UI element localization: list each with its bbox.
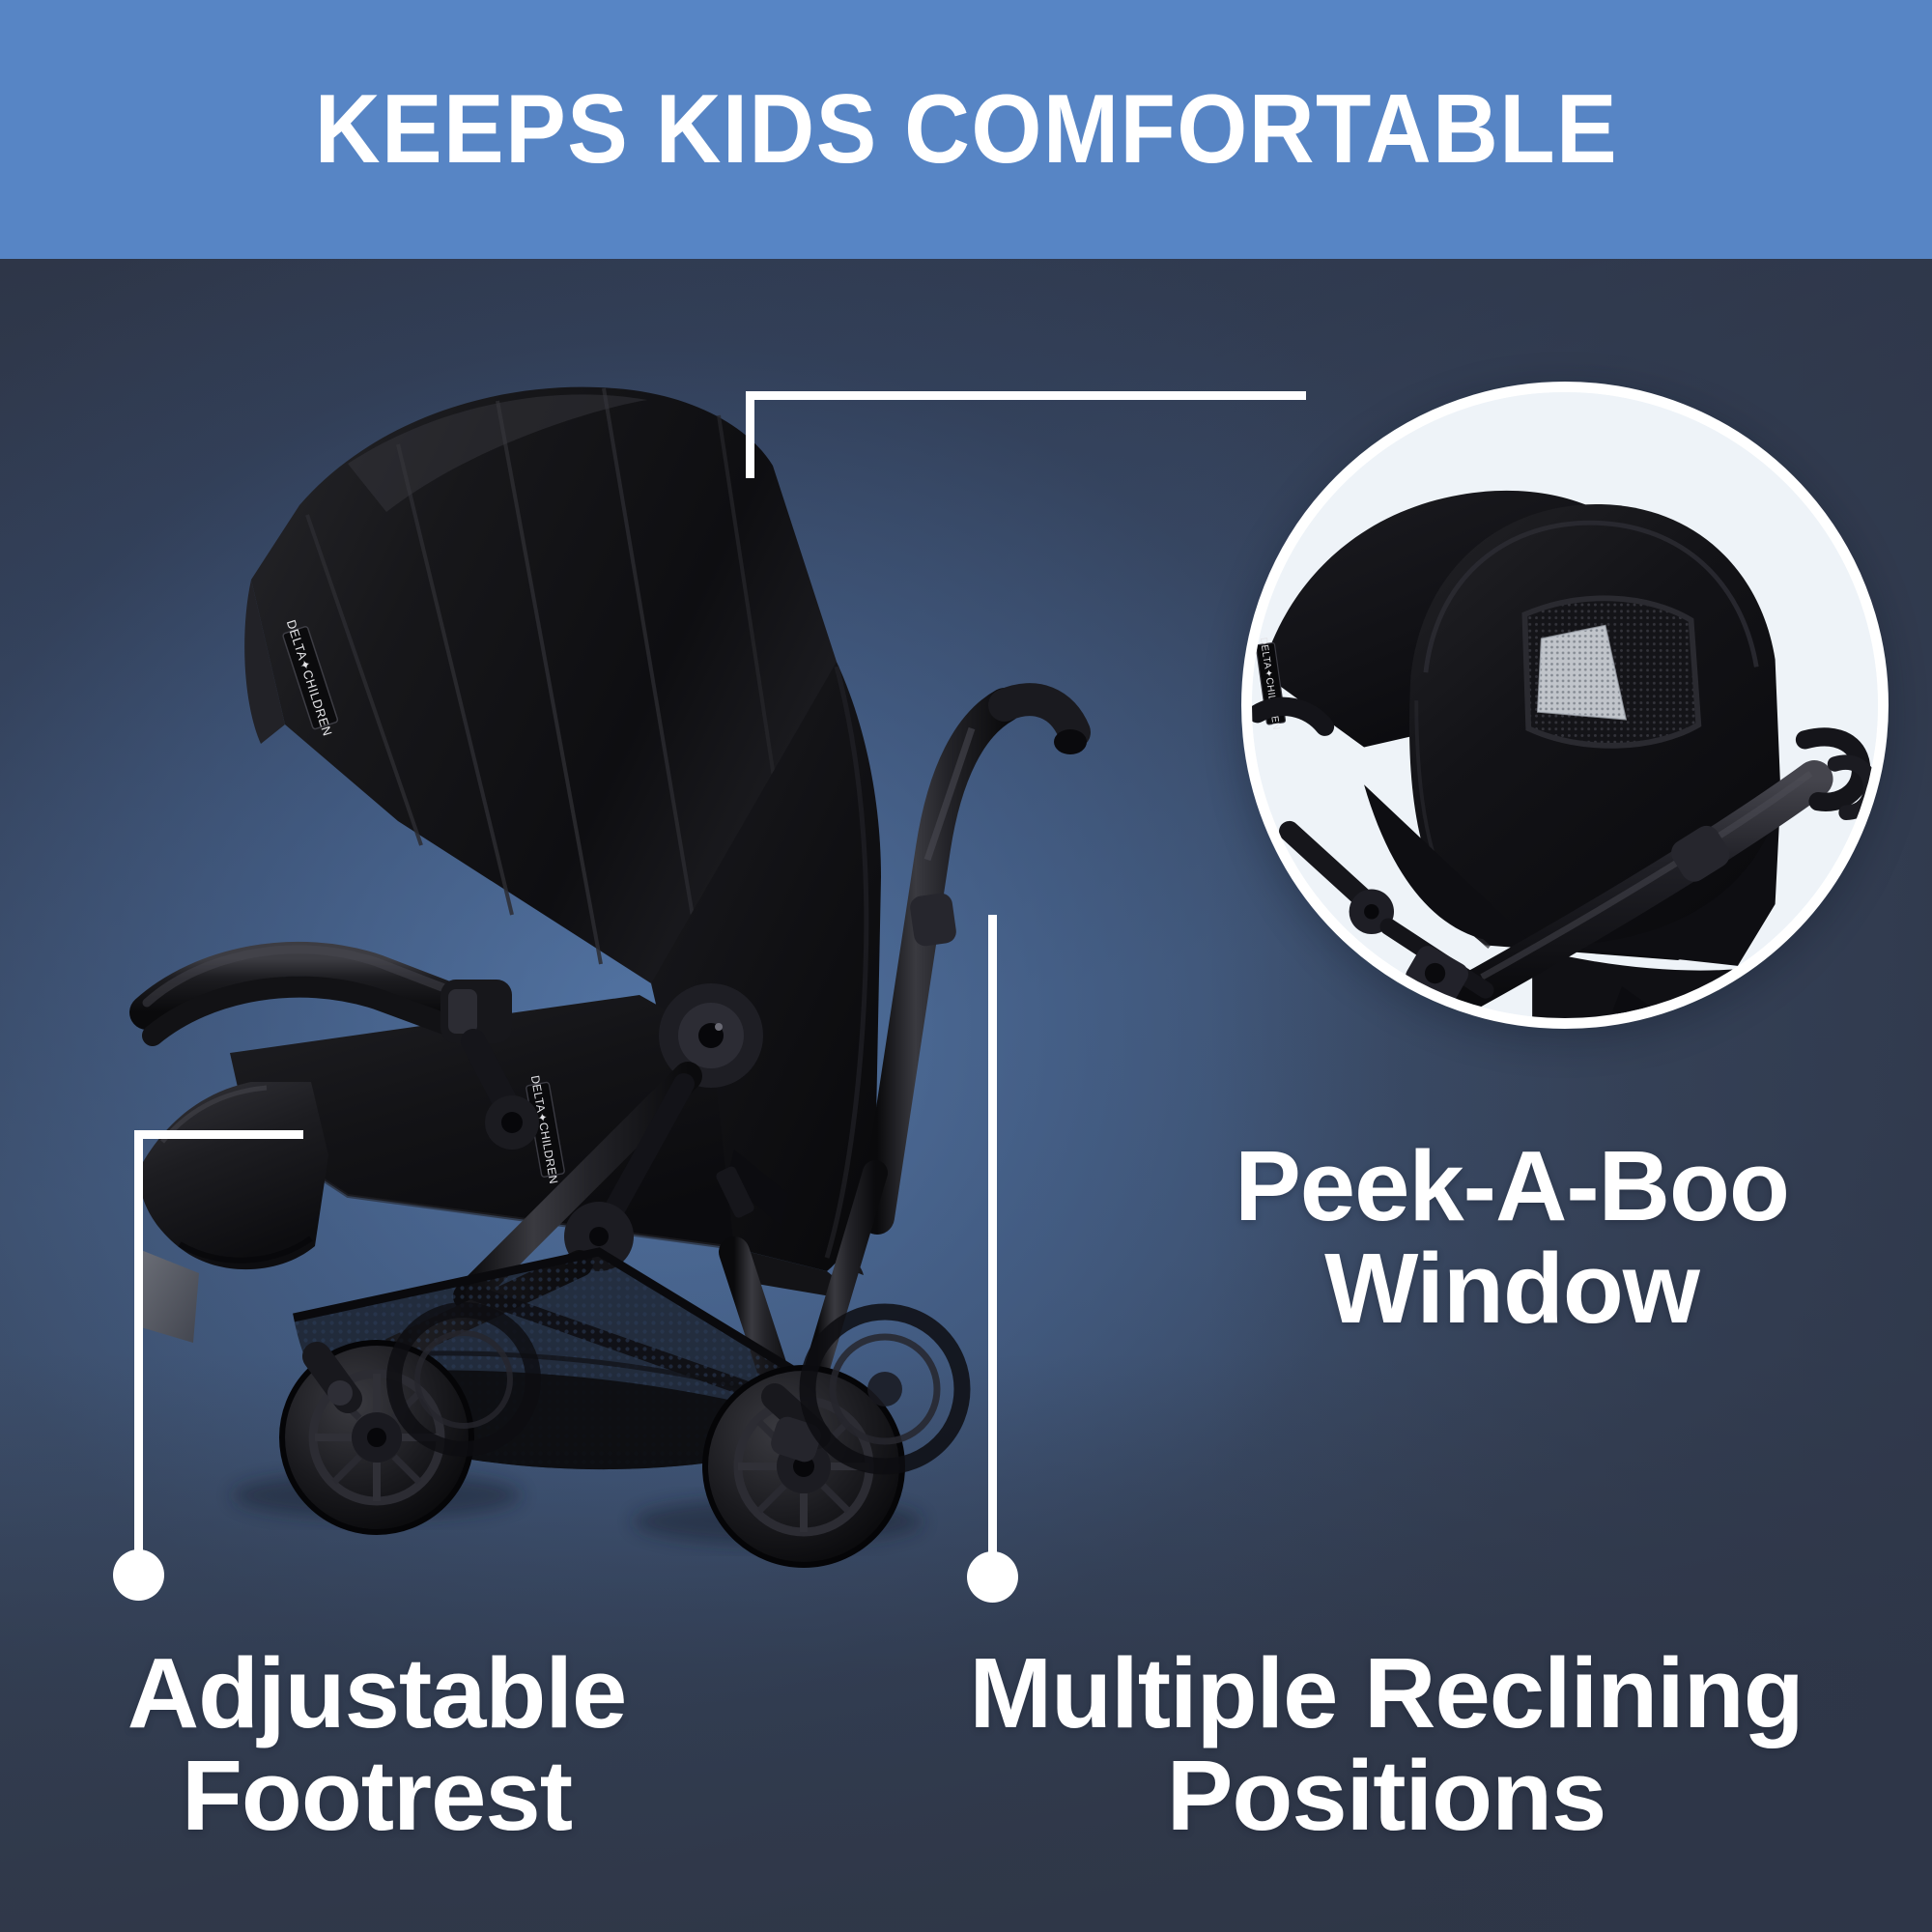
callout-label-reclining-line2: Positions <box>850 1745 1922 1847</box>
callout-label-peekaboo-window: Peek-A-Boo Window <box>1092 1135 1932 1340</box>
infographic-page: KEEPS KIDS COMFORTABLE <box>0 0 1932 1932</box>
callout-label-peekaboo-line1: Peek-A-Boo <box>1092 1135 1932 1237</box>
leader-line-footrest-vertical <box>134 1130 143 1555</box>
callout-label-adjustable-footrest: Adjustable Footrest <box>39 1642 715 1847</box>
callout-dot-reclining <box>967 1551 1018 1603</box>
callout-label-footrest-line1: Adjustable <box>39 1642 715 1745</box>
callout-label-multiple-reclining-positions: Multiple Reclining Positions <box>850 1642 1922 1847</box>
callout-dot-footrest <box>113 1549 164 1601</box>
leader-line-reclining-vertical <box>988 915 997 1557</box>
page-title: KEEPS KIDS COMFORTABLE <box>314 81 1617 179</box>
header-band: KEEPS KIDS COMFORTABLE <box>0 0 1932 259</box>
leader-line-footrest-horizontal <box>134 1130 303 1139</box>
leader-line-peekaboo-vertical <box>746 391 754 478</box>
product-image-stroller-side-view: DELTA✦CHILDREN DELTA✦CHILDREN <box>58 319 1121 1604</box>
callout-label-footrest-line2: Footrest <box>39 1745 715 1847</box>
inset-peekaboo-window-closeup: DELTA✦CHILDREN <box>1241 382 1889 1029</box>
callout-label-reclining-line1: Multiple Reclining <box>850 1642 1922 1745</box>
leader-line-peekaboo-horizontal <box>746 391 1306 400</box>
callout-label-peekaboo-line2: Window <box>1092 1237 1932 1340</box>
